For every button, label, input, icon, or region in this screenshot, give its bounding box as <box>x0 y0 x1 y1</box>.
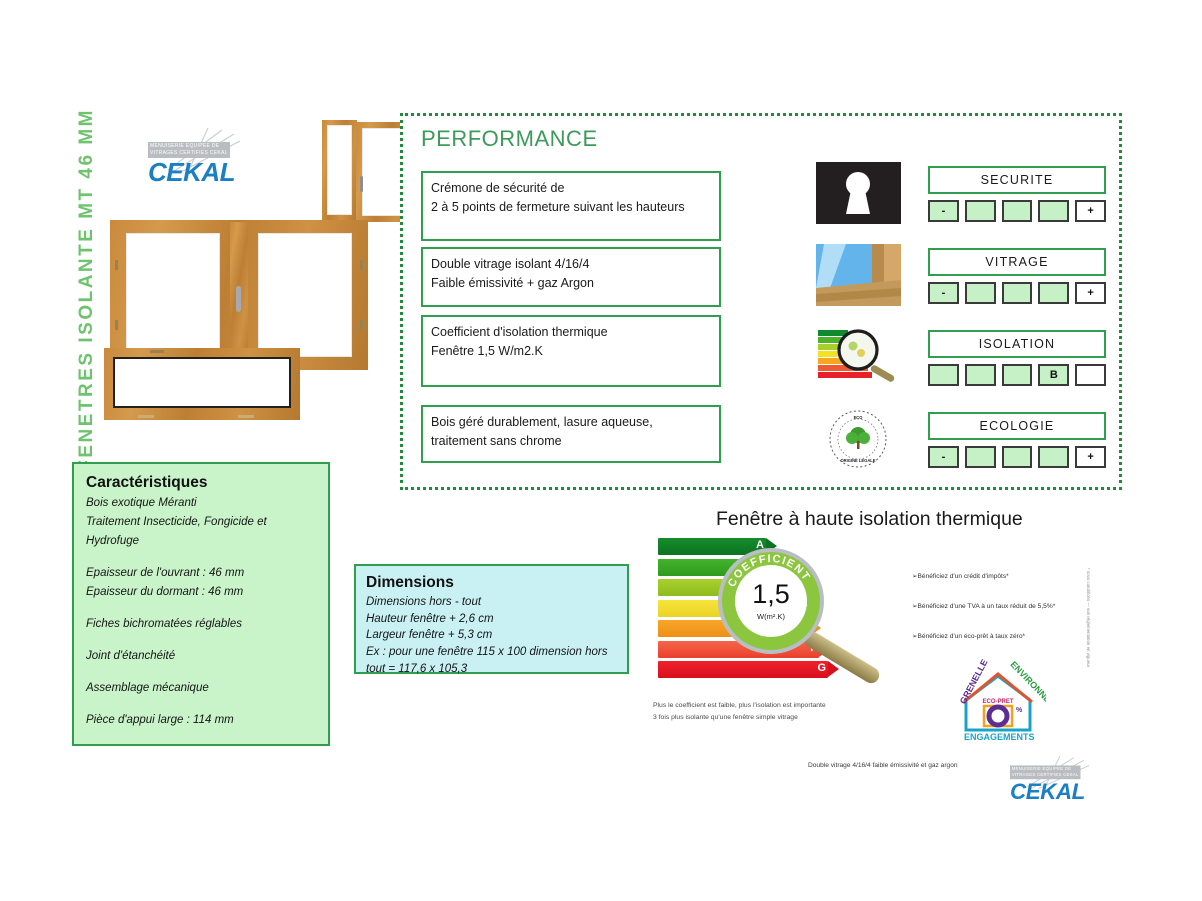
caracteristiques-line: Joint d'étanchéité <box>86 647 316 666</box>
caracteristiques-line: Traitement Insecticide, Fongicide et <box>86 513 316 532</box>
promo-bullet: ➢Bénéficiez d'un éco-prêt à taux zéro* <box>912 632 1025 640</box>
rating-cell-selected[interactable]: B <box>1038 364 1069 386</box>
window-sash-fixed <box>322 120 357 220</box>
grenelle-word-top: ENVIRONNEMENT <box>1008 659 1046 723</box>
eco-stamp-bottom-label: ORIGINE LEGALE <box>840 458 875 463</box>
rating-cells: - + <box>928 446 1106 468</box>
grenelle-environnement-seal: ECO-PRET % GRENELLE ENVIRONNEMENT ENGAGE… <box>950 650 1046 742</box>
window-glazing-icon <box>816 244 901 306</box>
caracteristiques-line: Fiches bichromatées réglables <box>86 615 316 634</box>
rating-cell[interactable] <box>928 364 959 386</box>
rating-cell[interactable] <box>965 446 996 468</box>
rating-group-vitrage: VITRAGE - + <box>928 248 1106 304</box>
performance-panel: PERFORMANCE Crémone de sécurité de 2 à 5… <box>400 113 1122 490</box>
dimensions-line: Dimensions hors - tout <box>366 594 617 611</box>
coefficient-value: 1,5 <box>752 581 790 608</box>
rating-cell[interactable] <box>1002 446 1033 468</box>
window-transom-sash <box>104 348 300 420</box>
cekal-logo-bottom: MENUISERIE EQUIPEE DE VITRAGES CERTIFIES… <box>1010 756 1084 802</box>
bottom-note: Double vitrage 4/16/4 faible émissivité … <box>808 762 958 769</box>
caracteristiques-box: Caractéristiques Bois exotique Méranti T… <box>72 462 330 746</box>
promo-footnote: * sous conditions — voir réglementation … <box>1086 568 1091 667</box>
caracteristiques-line: Pièce d'appui large : 114 mm <box>86 711 316 730</box>
promo-bullet: ➢Bénéficiez d'un crédit d'impôts* <box>912 572 1009 580</box>
poster-page: FENETRES ISOLANTE MT 46 MM MENUISERIE EQ… <box>0 0 1202 901</box>
window-handle <box>360 176 363 192</box>
caracteristiques-line: Epaisseur du dormant : 46 mm <box>86 583 316 602</box>
cekal-tagline-line2: VITRAGES CERTIFIES CEKAL <box>1012 772 1079 777</box>
performance-feature-box: Bois géré durablement, lasure aqueuse, t… <box>421 405 721 463</box>
rating-group-securite: SECURITE - + <box>928 166 1106 222</box>
rating-cell[interactable] <box>1038 446 1069 468</box>
rating-cell[interactable] <box>1002 200 1033 222</box>
grenelle-badge-label: ECO-PRET <box>982 699 1013 705</box>
rating-cell[interactable] <box>1038 200 1069 222</box>
eco-tree-stamp-icon: ECO ORIGINE LEGALE <box>816 408 901 470</box>
rating-cell[interactable]: - <box>928 446 959 468</box>
rating-group-isolation: ISOLATION B <box>928 330 1106 386</box>
window-product-images <box>110 120 410 440</box>
rating-cell[interactable] <box>1075 364 1106 386</box>
keyhole-icon <box>816 162 901 224</box>
rating-cells: - + <box>928 282 1106 304</box>
dimensions-line: Largeur fenêtre + 5,3 cm <box>366 627 617 644</box>
rating-cells: - + <box>928 200 1106 222</box>
rating-label: SECURITE <box>928 166 1106 194</box>
grenelle-word-bottom: ENGAGEMENTS <box>964 732 1035 742</box>
performance-feature-box: Coefficient d'isolation thermique Fenêtr… <box>421 315 721 387</box>
rating-cell[interactable]: - <box>928 200 959 222</box>
energy-label-caption: Plus le coefficient est faible, plus l'i… <box>653 700 826 724</box>
rating-cell[interactable]: + <box>1075 282 1106 304</box>
energy-bar-label: G <box>817 662 826 674</box>
cekal-tagline-line1: MENUISERIE EQUIPEE DE <box>1012 767 1072 772</box>
rating-label: ISOLATION <box>928 330 1106 358</box>
dimensions-line: tout = 117,6 x 105,3 <box>366 661 617 678</box>
energy-bar-g: G <box>658 661 828 678</box>
coefficient-magnifier: COEFFICIENT TRANSMISSION THERMIQUE 1,5 W… <box>718 548 824 654</box>
cekal-wordmark: CEKAL <box>1010 780 1084 802</box>
rating-cell[interactable]: - <box>928 282 959 304</box>
performance-title: PERFORMANCE <box>421 126 598 152</box>
rating-group-ecologie: ECOLOGIE - + <box>928 412 1106 468</box>
coefficient-readout: 1,5 W(m².K) <box>735 565 807 637</box>
vertical-product-title: FENETRES ISOLANTE MT 46 MM <box>70 120 104 460</box>
caracteristiques-line: Assemblage mécanique <box>86 679 316 698</box>
rating-label: VITRAGE <box>928 248 1106 276</box>
energy-caption-line1: Plus le coefficient est faible, plus l'i… <box>653 700 826 712</box>
performance-feature-box: Double vitrage isolant 4/16/4 Faible émi… <box>421 247 721 307</box>
energy-magnifier-icon <box>816 326 901 388</box>
rating-label: ECOLOGIE <box>928 412 1106 440</box>
cekal-tagline: MENUISERIE EQUIPEE DE VITRAGES CERTIFIES… <box>1010 766 1080 779</box>
grenelle-rate-label: % <box>1016 707 1023 714</box>
window-handle <box>236 286 241 312</box>
rating-cell[interactable] <box>965 282 996 304</box>
rating-cell[interactable]: + <box>1075 200 1106 222</box>
rating-cell[interactable]: + <box>1075 446 1106 468</box>
caracteristiques-title: Caractéristiques <box>86 474 316 492</box>
energy-caption-line2: 3 fois plus isolante qu'une fenêtre simp… <box>653 712 826 724</box>
dimensions-line: Ex : pour une fenêtre 115 x 100 dimensio… <box>366 644 617 661</box>
caracteristiques-line: Bois exotique Méranti <box>86 494 316 513</box>
caracteristiques-line: Epaisseur de l'ouvrant : 46 mm <box>86 564 316 583</box>
rating-cells: B <box>928 364 1106 386</box>
vertical-product-title-label: FENETRES ISOLANTE MT 46 MM <box>76 108 98 472</box>
dimensions-box: Dimensions Dimensions hors - tout Hauteu… <box>354 564 629 674</box>
rating-cell[interactable] <box>965 200 996 222</box>
caracteristiques-line: Hydrofuge <box>86 532 316 551</box>
promo-title: Fenêtre à haute isolation thermique <box>716 508 1023 531</box>
eco-stamp-top-label: ECO <box>854 415 864 420</box>
rating-cell[interactable] <box>1002 364 1033 386</box>
dimensions-line: Hauteur fenêtre + 2,6 cm <box>366 611 617 628</box>
rating-cell[interactable] <box>965 364 996 386</box>
rating-cell[interactable] <box>1038 282 1069 304</box>
dimensions-title: Dimensions <box>366 574 617 592</box>
coefficient-unit: W(m².K) <box>757 612 785 621</box>
rating-cell[interactable] <box>1002 282 1033 304</box>
promo-bullet: ➢Bénéficiez d'une TVA à un taux réduit d… <box>912 602 1055 610</box>
performance-feature-box: Crémone de sécurité de 2 à 5 points de f… <box>421 171 721 241</box>
